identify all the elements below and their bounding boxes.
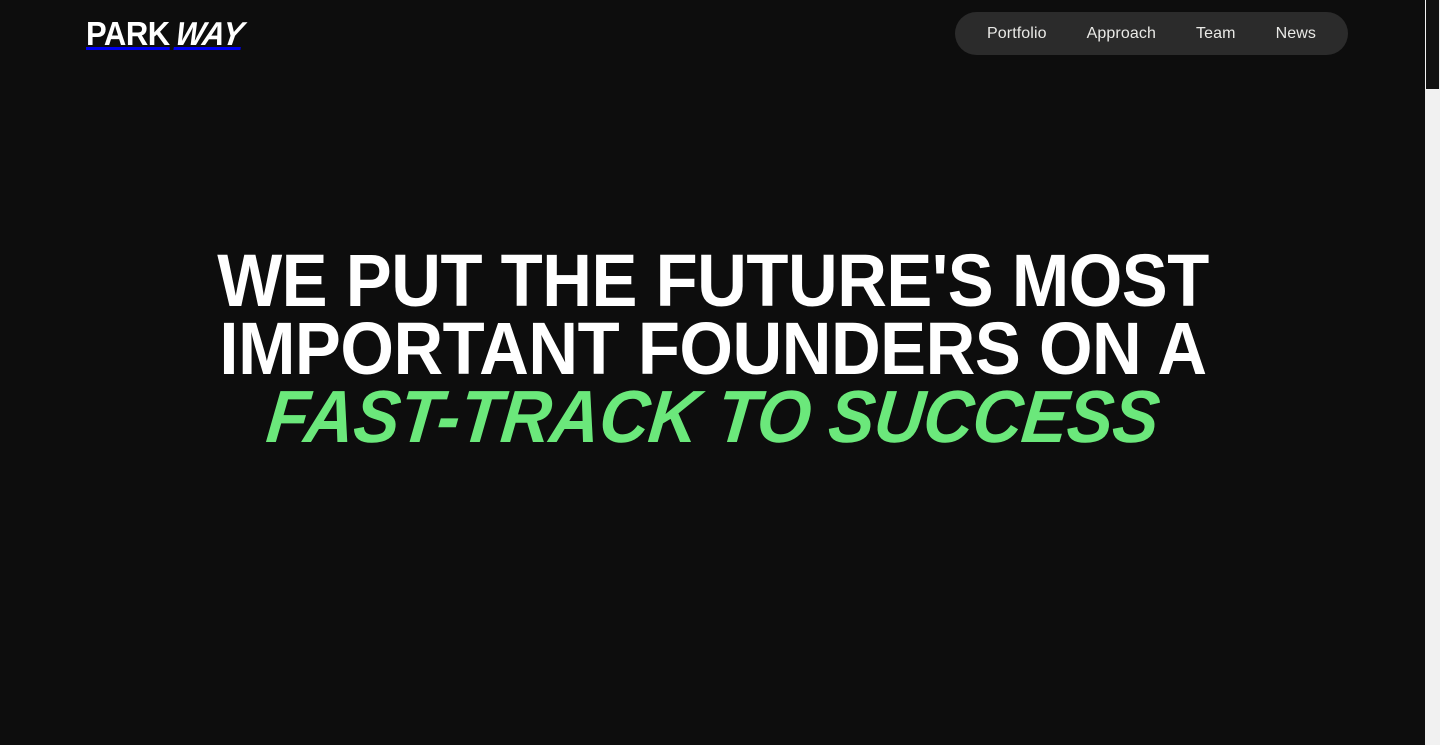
vertical-scrollbar-track[interactable]: [1425, 0, 1440, 745]
hero-headline-line-1: WE PUT THE FUTURE'S MOST: [201, 247, 1224, 315]
vertical-scrollbar-thumb[interactable]: [1426, 0, 1439, 89]
hero-headline-line-2: IMPORTANT FOUNDERS ON A: [201, 315, 1224, 383]
hero-headline-line-3-accent: FAST-TRACK TO SUCCESS: [197, 383, 1227, 451]
hero-headline: WE PUT THE FUTURE'S MOST IMPORTANT FOUND…: [163, 247, 1263, 451]
page-canvas: PARK WAY Portfolio Approach Team News WE…: [0, 0, 1425, 745]
hero-section: WE PUT THE FUTURE'S MOST IMPORTANT FOUND…: [0, 0, 1425, 745]
